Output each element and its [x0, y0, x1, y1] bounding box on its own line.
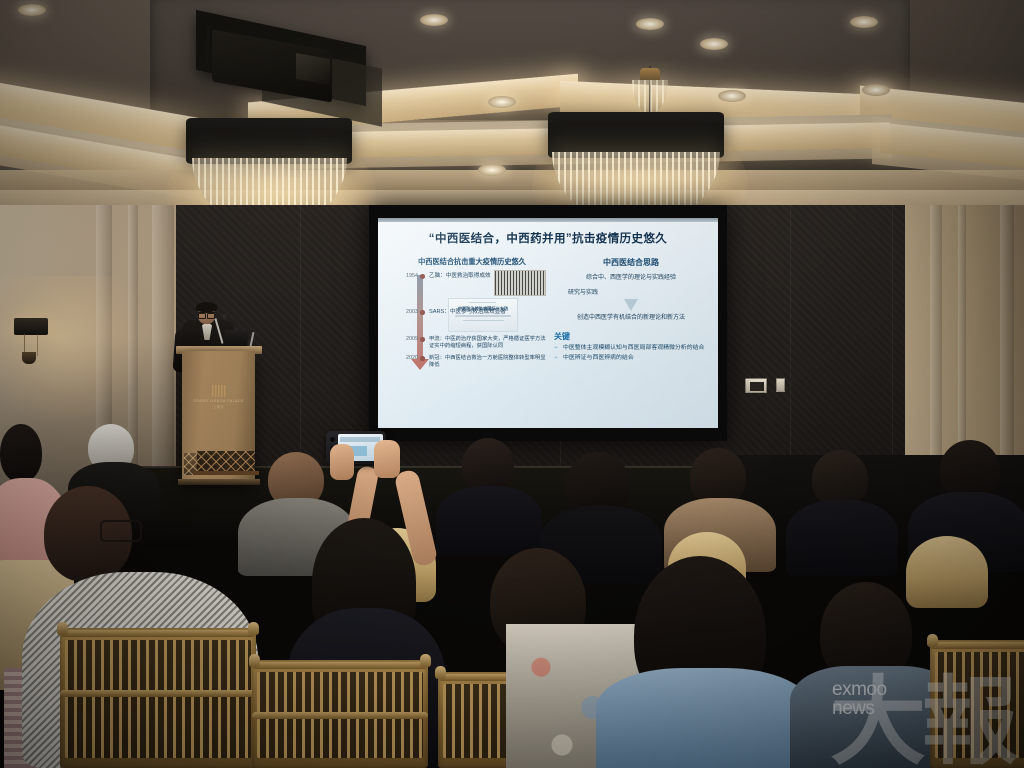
timeline-dot-icon [420, 337, 425, 342]
key-bullet: 中医辨证与西医辨病的结合 [554, 355, 708, 363]
person-head [940, 440, 1000, 500]
chair-knob [248, 622, 259, 635]
right-column-heading: 中西医结合思路 [554, 257, 708, 268]
timeline-year: 2020 [396, 355, 418, 361]
projection-screen: “中西医结合，中西药并用”抗击疫情历史悠久 中西医结合抗击重大疫情历史悠久 19… [378, 222, 718, 428]
downlight-icon [700, 38, 728, 50]
down-arrow-icon [624, 299, 638, 311]
person-shoulders [436, 486, 542, 556]
downlight-icon [488, 96, 516, 108]
glasses-icon [198, 312, 215, 316]
chair-knob [420, 654, 431, 667]
timeline-year: 2009 [396, 336, 418, 342]
conference-hall-photo: “中西医结合，中西药并用”抗击疫情历史悠久 中西医结合抗击重大疫情历史悠久 19… [0, 0, 1024, 768]
slide-title: “中西医结合，中西药并用”抗击疫情历史悠久 [388, 233, 708, 246]
wall-sconce-icon [14, 318, 48, 335]
person-shoulders [596, 668, 812, 768]
chair-mid-rail [252, 712, 428, 719]
podium-base [178, 479, 260, 485]
timeline-axis [417, 275, 423, 361]
timeline: 1954 乙脑：中医救治取得成效 中医防治传染病国际三大功 2003 [396, 273, 548, 369]
downlight-icon [850, 16, 878, 28]
chair-knob [927, 634, 938, 647]
downlight-icon [18, 4, 46, 16]
downlight-icon [636, 18, 664, 30]
timeline-year: 1954 [396, 273, 418, 279]
hand [330, 444, 354, 480]
timeline-text: 乙脑：中医救治取得成效 [426, 273, 548, 280]
hand [374, 440, 400, 478]
timeline-year: 2003 [396, 309, 418, 315]
wall-control-panel-icon[interactable] [745, 378, 767, 393]
light-switch-icon[interactable] [776, 378, 785, 392]
timeline-item: 2003 SARS：中医参与救治成效显著 [426, 309, 548, 319]
left-column-heading: 中西医结合抗击重大疫情历史悠久 [396, 257, 548, 267]
chair-top-rail [930, 642, 1024, 649]
timeline-dot-icon [420, 356, 425, 361]
phone-screen-content [340, 437, 380, 442]
chair [252, 660, 428, 768]
chandelier-finial [640, 68, 660, 80]
chair-spindles [935, 652, 1024, 758]
wall-sconce-base [22, 352, 36, 364]
timeline-text: 新冠：中西医结合救治一方舱医院整体转型率明显降低 [426, 355, 548, 369]
key-bullet: 中医整体主观模糊认知与西医局部客观精微分析的结合 [554, 345, 708, 353]
doc-line [469, 302, 496, 304]
chair-mid-rail [60, 690, 256, 697]
downlight-icon [420, 14, 448, 26]
timeline-text: 甲流：中医药治疗获国家大奖，严格循证医学方法证实中药缩短病程，获国际认同 [426, 336, 548, 350]
chair-top-rail [252, 662, 428, 669]
podium-logo: GRAND LISBOA PALACE 上葡京 [182, 385, 255, 409]
chair [906, 536, 988, 608]
microphone-icon [222, 314, 227, 319]
stage-prop-base [193, 471, 259, 475]
downlight-icon [862, 84, 890, 96]
venue-name-cn: 上葡京 [182, 404, 255, 409]
chair-knob [57, 622, 68, 635]
podium-laptop [223, 330, 249, 346]
slide-right-column: 中西医结合思路 综合中、西医学的理论与实践经验 研究与实践 创造中西医学有机结合… [548, 257, 708, 374]
chair-top-rail [60, 630, 256, 637]
doc-line [463, 320, 504, 322]
timeline-dot-icon [420, 274, 425, 279]
chair-knob [435, 666, 446, 679]
chair [60, 628, 256, 768]
timeline-item: 2020 新冠：中西医结合救治一方舱医院整体转型率明显降低 [426, 355, 548, 369]
stage-lattice-prop [197, 451, 255, 473]
timeline-dot-icon [420, 310, 425, 315]
phone-camera-icon [330, 437, 335, 442]
timeline-text: SARS：中医参与救治成效显著 [426, 309, 548, 316]
slide-left-column: 中西医结合抗击重大疫情历史悠久 1954 乙脑：中医救治取得成效 中医 [388, 257, 548, 374]
person-shoulders [786, 500, 898, 576]
person-hair [0, 424, 42, 482]
right-line-3: 创造中西医学有机结合的新理论和新方法 [554, 314, 708, 322]
chair-knob [249, 654, 260, 667]
grand-lisboa-palace-emblem-icon [212, 385, 226, 397]
chair-cushion [906, 536, 988, 608]
timeline-item: 1954 乙脑：中医救治取得成效 [426, 273, 548, 283]
slide-columns: 中西医结合抗击重大疫情历史悠久 1954 乙脑：中医救治取得成效 中医 [388, 257, 708, 374]
chair [930, 640, 1024, 768]
speaker-hair [196, 302, 217, 312]
downlight-icon [478, 164, 506, 176]
right-line-2: 研究与实践 [554, 289, 708, 297]
timeline-item: 2009 甲流：中医药治疗获国家大奖，严格循证医学方法证实中药缩短病程，获国际认… [426, 336, 548, 350]
right-line-1: 综合中、西医学的理论与实践经验 [554, 274, 708, 282]
key-section-heading: 关键 [554, 331, 708, 342]
glasses-icon [100, 520, 142, 542]
downlight-icon [718, 90, 746, 102]
chair-spindles [65, 640, 251, 758]
presentation-slide: “中西医结合，中西药并用”抗击疫情历史悠久 中西医结合抗击重大疫情历史悠久 19… [378, 222, 718, 428]
venue-name: GRAND LISBOA PALACE [182, 399, 255, 403]
